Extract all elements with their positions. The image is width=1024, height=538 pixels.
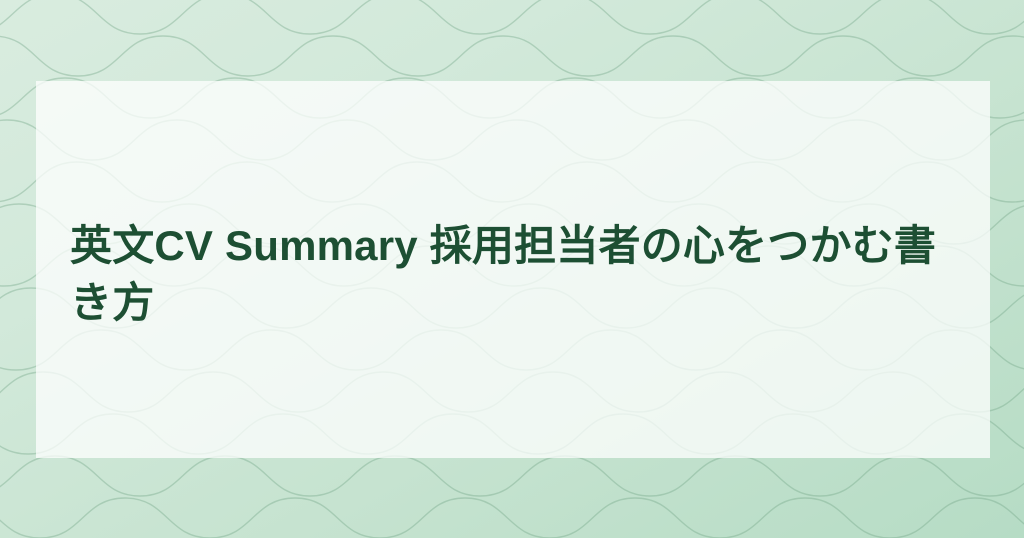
title-block: 英文CV Summary 採用担当者の心をつかむ書き方 bbox=[70, 213, 956, 327]
page-title: 英文CV Summary 採用担当者の心をつかむ書き方 bbox=[70, 217, 956, 331]
hero-banner: 英文CV Summary 採用担当者の心をつかむ書き方 bbox=[0, 0, 1024, 538]
title-card: 英文CV Summary 採用担当者の心をつかむ書き方 bbox=[36, 81, 990, 458]
